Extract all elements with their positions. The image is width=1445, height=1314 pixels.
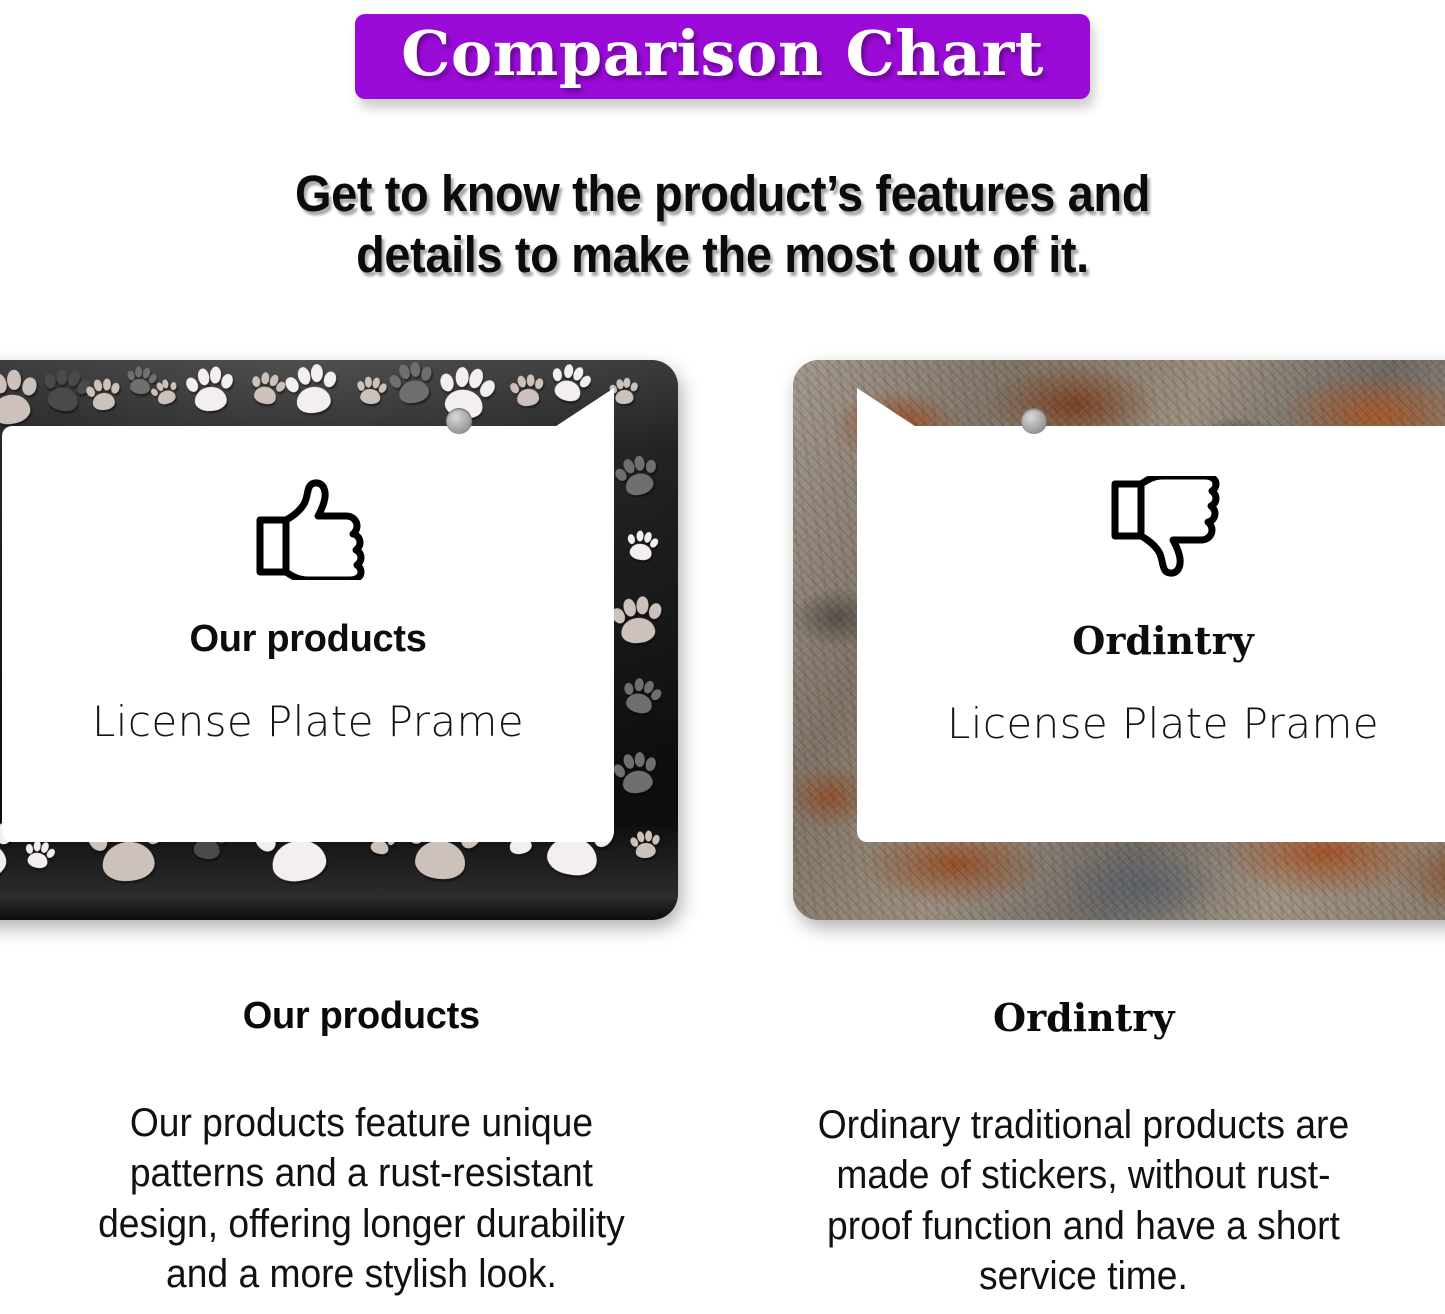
column-description: Ordinary traditional products are made o…	[802, 1100, 1366, 1302]
comparison-column-ordintry: Ordintry Ordinary traditional products a…	[723, 995, 1445, 1314]
plate-label-our-products: Our products License Plate Prame	[2, 426, 614, 842]
header-banner: Comparison Chart	[355, 14, 1090, 99]
comparison-columns: Our products Our products feature unique…	[0, 995, 1445, 1314]
thumbs-down-icon	[1103, 476, 1223, 580]
paw-print-icon	[283, 361, 341, 417]
header-banner-container: Comparison Chart	[0, 14, 1445, 99]
column-description: Our products feature unique patterns and…	[79, 1098, 643, 1300]
plate-label-subtitle: License Plate Prame	[92, 697, 524, 746]
thumbs-up-icon	[248, 476, 368, 580]
paw-print-icon	[610, 594, 665, 646]
paw-print-icon	[38, 364, 92, 416]
paw-print-icon	[184, 364, 235, 413]
comparison-chart-page: Comparison Chart Get to know the product…	[0, 0, 1445, 1314]
paw-print-icon	[508, 372, 546, 409]
paw-print-icon	[84, 376, 121, 412]
paw-print-icon	[629, 829, 662, 860]
subtitle-line-1: Get to know the product’s features and	[58, 163, 1387, 224]
comparison-column-our-products: Our products Our products feature unique…	[0, 995, 723, 1314]
paw-print-icon	[355, 375, 388, 406]
column-title: Our products	[243, 995, 480, 1038]
column-title: Ordintry	[993, 995, 1174, 1040]
plate-label-ordintry: Ordintry License Plate Prame	[857, 426, 1445, 842]
page-subtitle: Get to know the product’s features and d…	[58, 163, 1387, 285]
paw-print-icon	[611, 748, 662, 797]
plate-label-title: Ordintry	[1072, 618, 1253, 663]
page-title: Comparison Chart	[401, 21, 1044, 86]
plate-label-subtitle: License Plate Prame	[947, 699, 1379, 748]
subtitle-line-2: details to make the most out of it.	[58, 224, 1387, 285]
product-image-our-products: Our products License Plate Prame	[0, 360, 678, 920]
product-image-ordintry: Ordintry License Plate Prame	[793, 360, 1445, 920]
paw-print-icon	[21, 837, 56, 871]
plate-label-title: Our products	[189, 618, 426, 661]
paw-print-icon	[624, 527, 661, 562]
product-image-row: Our products License Plate Prame Ordin	[0, 360, 1445, 926]
